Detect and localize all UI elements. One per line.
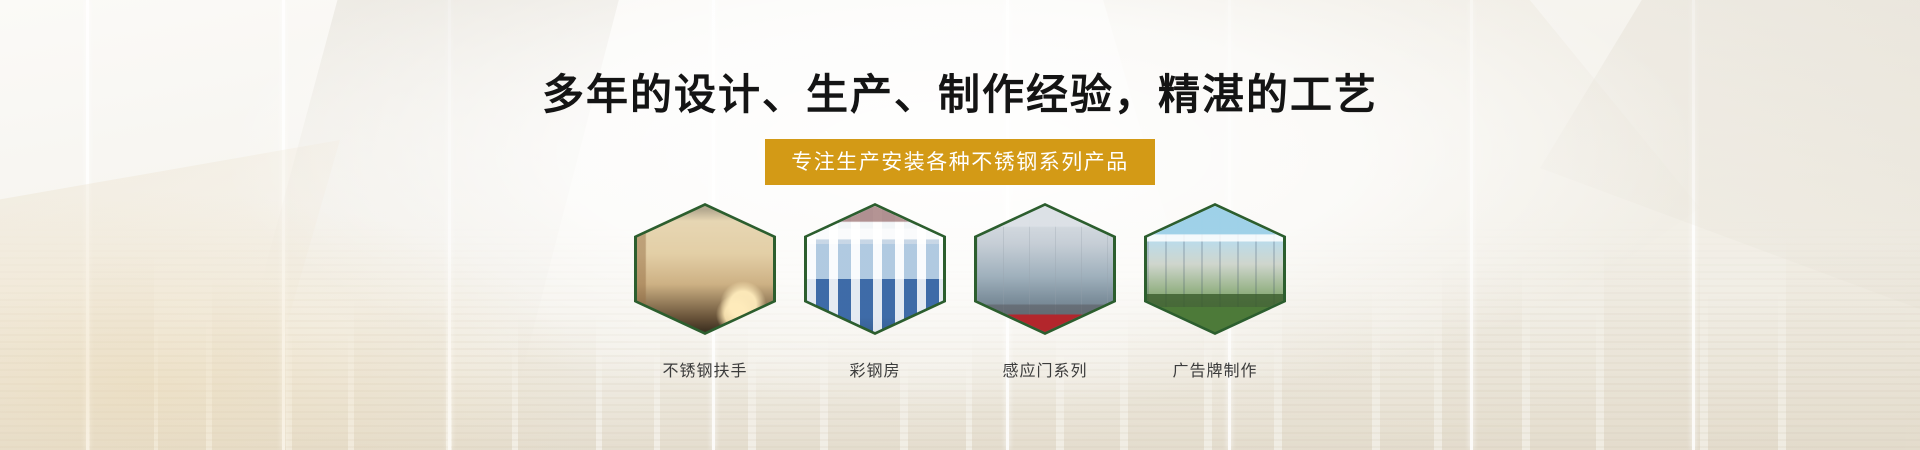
hero-banner: 多年的设计、生产、制作经验，精湛的工艺 专注生产安装各种不锈钢系列产品 不锈钢扶…	[0, 0, 1920, 450]
product-card-color-steel-room[interactable]: 彩钢房	[803, 203, 947, 381]
hexagon-thumbnail-frame[interactable]	[804, 203, 946, 335]
signboard-thumbnail-image	[1147, 206, 1283, 332]
banner-subtitle-row: 专注生产安装各种不锈钢系列产品	[0, 139, 1920, 185]
product-card-handrail[interactable]: 不锈钢扶手	[633, 203, 777, 381]
product-card-caption: 感应门系列	[1002, 357, 1087, 381]
hexagon-thumbnail-frame[interactable]	[974, 203, 1116, 335]
handrail-thumbnail-image	[637, 206, 773, 332]
product-card-caption: 不锈钢扶手	[662, 357, 747, 381]
product-card-signboard[interactable]: 广告牌制作	[1143, 203, 1287, 381]
hexagon-thumbnail-frame[interactable]	[1144, 203, 1286, 335]
product-card-caption: 彩钢房	[849, 357, 900, 381]
banner-headline: 多年的设计、生产、制作经验，精湛的工艺	[0, 74, 1920, 116]
product-card-list: 不锈钢扶手 彩钢房 感应门系列	[0, 203, 1920, 381]
product-card-sensor-door[interactable]: 感应门系列	[973, 203, 1117, 381]
banner-content: 多年的设计、生产、制作经验，精湛的工艺 专注生产安装各种不锈钢系列产品 不锈钢扶…	[0, 0, 1920, 450]
hexagon-thumbnail-frame[interactable]	[634, 203, 776, 335]
color-steel-room-thumbnail-image	[807, 206, 943, 332]
banner-subtitle-badge: 专注生产安装各种不锈钢系列产品	[765, 139, 1155, 185]
sensor-door-thumbnail-image	[977, 206, 1113, 332]
product-card-caption: 广告牌制作	[1172, 357, 1257, 381]
